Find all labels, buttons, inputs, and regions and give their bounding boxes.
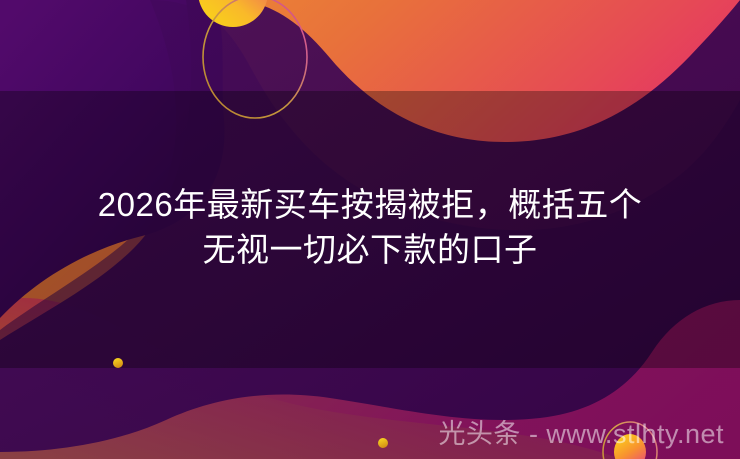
decor-yellow-dot-bottom bbox=[378, 438, 388, 448]
poster-title-line-1: 2026年最新买车按揭被拒，概括五个 bbox=[0, 182, 740, 227]
site-watermark: 光头条 - www.stlhty.net bbox=[438, 418, 724, 450]
poster-title-line-2: 无视一切必下款的口子 bbox=[0, 227, 740, 272]
poster-image: 2026年最新买车按揭被拒，概括五个 无视一切必下款的口子 光头条 - www.… bbox=[0, 0, 740, 459]
decor-yellow-dot-left bbox=[113, 358, 123, 368]
poster-title: 2026年最新买车按揭被拒，概括五个 无视一切必下款的口子 bbox=[0, 182, 740, 272]
